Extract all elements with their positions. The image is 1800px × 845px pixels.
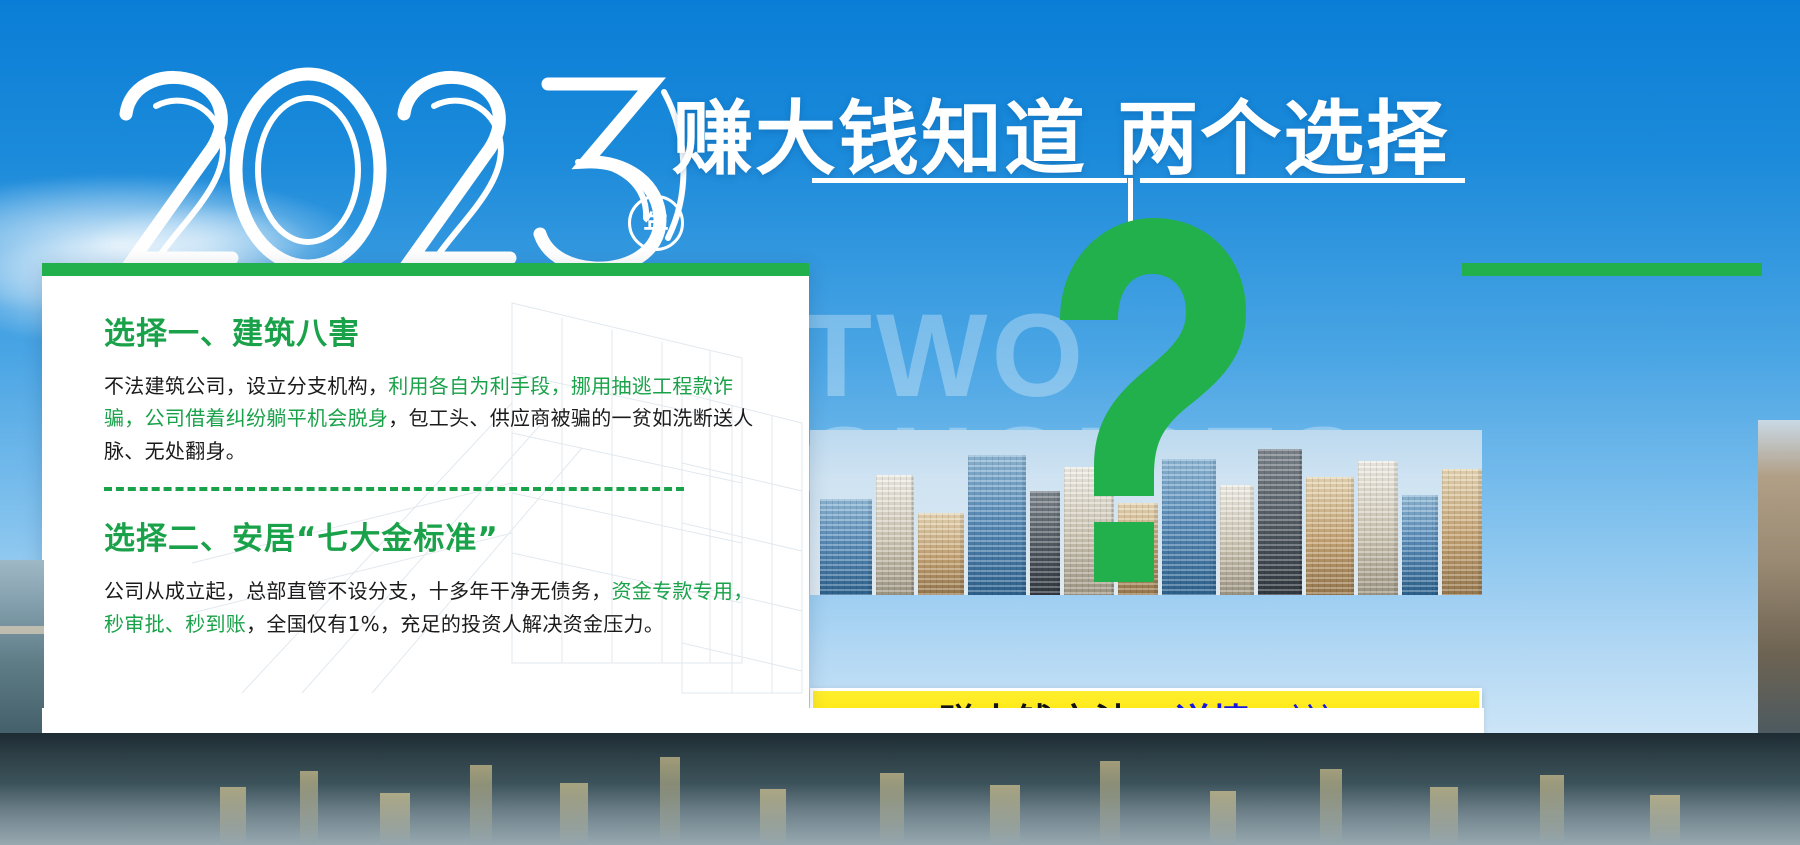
bottom-photo-strip <box>0 733 1800 845</box>
year-unit-label: 年 <box>643 205 668 241</box>
left-landscape-sliver <box>0 560 44 733</box>
watermark-line-1: TWO <box>800 300 1490 413</box>
headline-rule-right <box>1140 178 1465 183</box>
section-two-body-part2: ，全国仅有1%，充足的投资人解决资金压力。 <box>246 612 664 636</box>
section-divider <box>104 487 684 491</box>
card-bottom-frame <box>42 708 1484 733</box>
headline-rule-vertical <box>1128 178 1133 262</box>
year-2023-graphic <box>112 62 712 277</box>
section-two-body: 公司从成立起，总部直管不设分支，十多年干净无债务，资金专款专用，秒审批、秒到账，… <box>104 575 767 640</box>
page-title: 赚大钱知道 两个选择 <box>672 74 1449 191</box>
section-one-body: 不法建筑公司，设立分支机构，利用各自为利手段，挪用抽逃工程款诈骗，公司借着纠纷躺… <box>104 370 767 467</box>
section-choice-one: 选择一、建筑八害 不法建筑公司，设立分支机构，利用各自为利手段，挪用抽逃工程款诈… <box>104 308 767 467</box>
section-one-body-part1: 不法建筑公司，设立分支机构， <box>104 374 388 398</box>
promo-banner: 年 赚大钱知道 两个选择 TWO CHOICES 赚大钱方法 详情 <box>0 0 1800 845</box>
section-one-title: 选择一、建筑八害 <box>104 308 767 353</box>
content-card: 选择一、建筑八害 不法建筑公司，设立分支机构，利用各自为利手段，挪用抽逃工程款诈… <box>42 263 809 708</box>
green-accent-strip <box>1462 263 1762 276</box>
headline-rule-left <box>812 178 1127 183</box>
section-two-title: 选择二、安居“七大金标准” <box>104 513 767 558</box>
section-choice-two: 选择二、安居“七大金标准” 公司从成立起，总部直管不设分支，十多年干净无债务，资… <box>104 513 767 640</box>
city-skyline-photo <box>810 430 1482 595</box>
section-two-body-part1: 公司从成立起，总部直管不设分支，十多年干净无债务， <box>104 579 612 603</box>
year-unit-badge: 年 <box>628 195 684 251</box>
right-landscape-sliver <box>1758 420 1800 733</box>
